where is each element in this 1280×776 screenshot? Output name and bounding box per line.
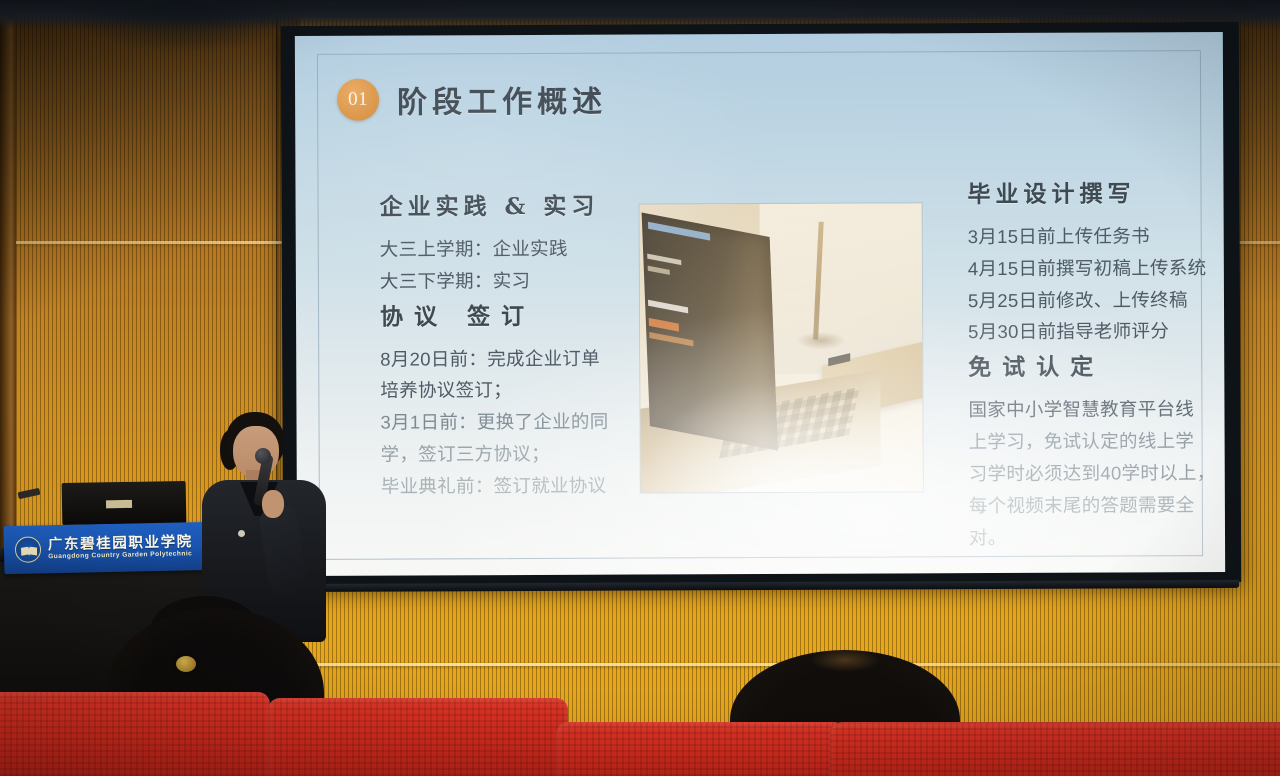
laptop-photo (640, 203, 923, 492)
slide-column-right: 毕业设计撰写 3月15日前上传任务书 4月15日前撰写初稿上传系统 5月25日前… (967, 174, 1225, 553)
block-line: 培养协议签订； (380, 374, 652, 407)
block-heading: 企业实践 & 实习 (379, 186, 651, 221)
block-line: 对。 (969, 520, 1225, 553)
school-name-cn: 广东碧桂园职业学院 (48, 534, 193, 552)
block-line: 习学时必须达到40学时以上， (969, 457, 1225, 490)
audience-head-right-highlight (810, 648, 880, 672)
block-heading: 免试认定 (968, 347, 1225, 382)
block-heading: 毕业设计撰写 (967, 174, 1225, 209)
block-line: 上学习，免试认定的线上学 (969, 425, 1226, 458)
slide-column-left: 企业实践 & 实习 大三上学期：企业实践 大三下学期：实习 协议 签订 8月20… (379, 186, 652, 502)
block-agreement-signing: 协议 签订 8月20日前：完成企业订单 培养协议签订； 3月1日前：更换了企业的… (380, 296, 653, 502)
auditorium-seat (556, 722, 846, 776)
block-line: 大三下学期：实习 (380, 264, 652, 297)
hair-clip (176, 656, 196, 672)
block-line: 国家中小学智慧教育平台线 (968, 393, 1225, 426)
presenter-button (238, 530, 245, 537)
presentation-slide: 01 阶段工作概述 企业实践 & 实习 大三上学期：企业实践 大三下学期：实习 … (295, 32, 1225, 576)
microphone-head-icon (255, 448, 271, 464)
auditorium-seat (268, 698, 568, 776)
block-line: 毕业典礼前：签订就业协议 (381, 469, 653, 502)
school-name: 广东碧桂园职业学院 Guangdong Country Garden Polyt… (48, 534, 193, 561)
block-enterprise-practice: 企业实践 & 实习 大三上学期：企业实践 大三下学期：实习 (379, 186, 651, 297)
block-line: 每个视频末尾的答题需要全 (969, 489, 1225, 522)
section-number-badge: 01 (337, 79, 379, 121)
block-line: 5月25日前修改、上传终稿 (968, 284, 1225, 317)
photo-washout (640, 203, 923, 492)
podium-sign: 广东碧桂园职业学院 Guangdong Country Garden Polyt… (4, 522, 213, 574)
auditorium-scene: 01 阶段工作概述 企业实践 & 实习 大三上学期：企业实践 大三下学期：实习 … (0, 0, 1280, 776)
school-name-en: Guangdong Country Garden Polytechnic (48, 551, 193, 561)
auditorium-seat (0, 692, 270, 776)
block-exemption-certification: 免试认定 国家中小学智慧教育平台线 上学习，免试认定的线上学 习学时必须达到40… (968, 347, 1225, 553)
page-title: 阶段工作概述 (397, 77, 607, 122)
auditorium-seat (830, 722, 1280, 776)
podium-monitor (62, 481, 187, 525)
projection-screen-frame: 01 阶段工作概述 企业实践 & 实习 大三上学期：企业实践 大三下学期：实习 … (281, 22, 1241, 586)
block-heading: 协议 签订 (380, 296, 652, 331)
block-thesis-writing: 毕业设计撰写 3月15日前上传任务书 4月15日前撰写初稿上传系统 5月25日前… (967, 174, 1225, 348)
block-line: 5月30日前指导老师评分 (968, 315, 1225, 348)
ceiling-shadow (60, 0, 310, 52)
block-line: 学，签订三方协议； (381, 438, 653, 471)
block-line: 8月20日前：完成企业订单 (380, 342, 652, 375)
block-line: 3月1日前：更换了企业的同 (380, 406, 652, 439)
block-line: 大三上学期：企业实践 (380, 232, 652, 265)
block-line: 4月15日前撰写初稿上传系统 (968, 252, 1225, 285)
block-line: 3月15日前上传任务书 (968, 220, 1226, 253)
presenter-hand (262, 490, 284, 518)
slide-title-row: 01 阶段工作概述 (337, 77, 607, 122)
school-emblem-icon (15, 536, 42, 563)
